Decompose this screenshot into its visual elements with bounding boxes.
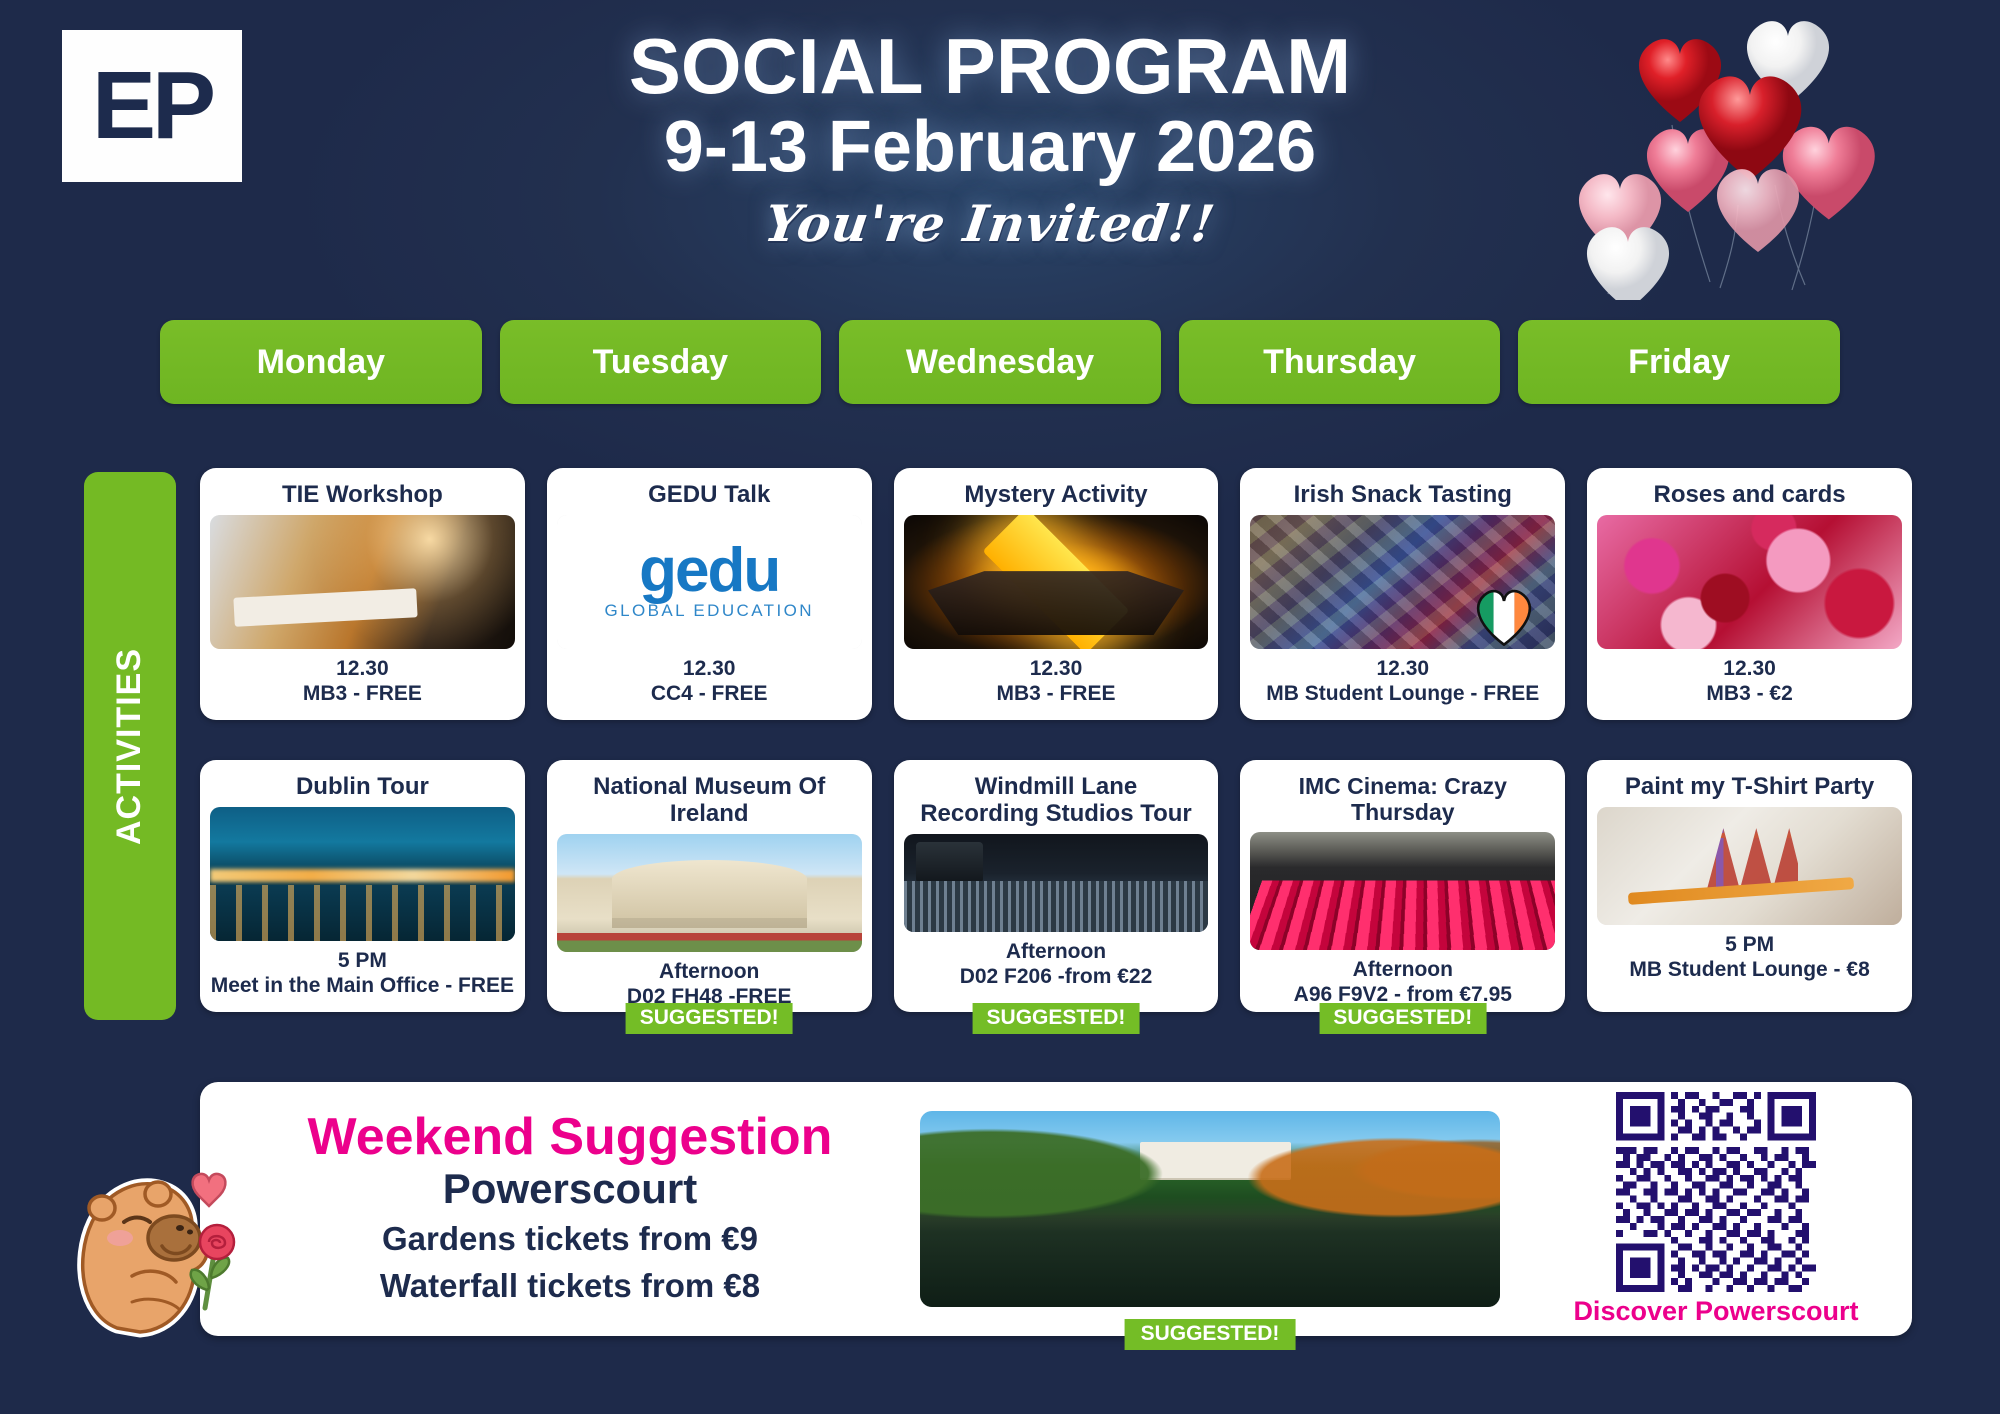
activity-image-cinema-seats <box>1250 832 1555 950</box>
weekend-heading: Weekend Suggestion <box>240 1110 900 1165</box>
activity-time: 12.30 <box>1030 657 1083 680</box>
weekend-text-block: Weekend Suggestion Powerscourt Gardens t… <box>200 1110 900 1308</box>
activity-location: D02 F206 -from €22 <box>960 964 1153 989</box>
day-header-row: Monday Tuesday Wednesday Thursday Friday <box>160 320 1840 404</box>
weekend-suggestion-panel: Weekend Suggestion Powerscourt Gardens t… <box>200 1082 1912 1336</box>
activity-time: 12.30 <box>683 657 736 680</box>
activity-meta: 12.30 MB3 - FREE <box>303 656 422 706</box>
weekend-qr-block[interactable]: Discover Powerscourt <box>1520 1092 1912 1327</box>
qr-code-icon[interactable] <box>1616 1092 1816 1292</box>
day-header-thursday[interactable]: Thursday <box>1179 320 1501 404</box>
activity-time: Afternoon <box>659 960 759 983</box>
activity-title: Roses and cards <box>1597 482 1902 509</box>
activity-title: Paint my T-Shirt Party <box>1597 774 1902 801</box>
activity-title-line1: Windmill Lane <box>904 774 1209 801</box>
grid-cell: Windmill Lane Recording Studios Tour Aft… <box>894 760 1219 1012</box>
weekend-place: Powerscourt <box>240 1165 900 1213</box>
grid-cell: Mystery Activity 12.30 MB3 - FREE <box>894 468 1219 720</box>
activity-time: Afternoon <box>1353 958 1453 981</box>
page-dates: 9-13 February 2026 <box>420 108 1560 187</box>
activity-title: Irish Snack Tasting <box>1250 482 1555 509</box>
ep-logo: EP <box>62 30 242 182</box>
invite-script-text: You're Invited!! <box>416 194 1564 253</box>
activity-card-imc-cinema[interactable]: IMC Cinema: Crazy Thursday Afternoon A96… <box>1240 760 1565 1012</box>
activity-time: 5 PM <box>1725 933 1774 956</box>
grid-cell: National Museum Of Ireland Afternoon D02… <box>547 760 872 1012</box>
activity-image-students-writing <box>210 515 515 649</box>
activity-meta: 12.30 MB3 - FREE <box>996 656 1115 706</box>
day-header-tuesday[interactable]: Tuesday <box>500 320 822 404</box>
activity-time: 12.30 <box>1723 657 1776 680</box>
grid-cell: Paint my T-Shirt Party 5 PM MB Student L… <box>1587 760 1912 1012</box>
activity-meta: 12.30 MB3 - €2 <box>1706 656 1792 706</box>
activity-location: CC4 - FREE <box>651 681 768 706</box>
activities-grid: TIE Workshop 12.30 MB3 - FREE GEDU Talk … <box>200 468 1912 1012</box>
activity-location: MB3 - €2 <box>1706 681 1792 706</box>
activity-time: 5 PM <box>338 949 387 972</box>
activity-image-painting-tshirt <box>1597 807 1902 925</box>
ep-logo-text: EP <box>92 58 212 154</box>
activity-meta: Afternoon A96 F9V2 - from €7.95 <box>1294 957 1512 1007</box>
capybara-with-rose-sticker <box>62 1150 242 1350</box>
activity-image-recording-studio <box>904 834 1209 932</box>
activity-time: Afternoon <box>1006 940 1106 963</box>
activity-title: TIE Workshop <box>210 482 515 509</box>
activity-card-national-museum[interactable]: National Museum Of Ireland Afternoon D02… <box>547 760 872 1012</box>
day-header-wednesday[interactable]: Wednesday <box>839 320 1161 404</box>
weekend-price-waterfall: Waterfall tickets from €8 <box>240 1264 900 1308</box>
activity-meta: Afternoon D02 FH48 -FREE <box>627 959 792 1009</box>
activity-meta: 12.30 MB Student Lounge - FREE <box>1266 656 1539 706</box>
activity-card-windmill-lane[interactable]: Windmill Lane Recording Studios Tour Aft… <box>894 760 1219 1012</box>
grid-cell: TIE Workshop 12.30 MB3 - FREE <box>200 468 525 720</box>
day-header-monday[interactable]: Monday <box>160 320 482 404</box>
heart-balloons-icon <box>1560 0 1980 300</box>
suggested-badge: SUGGESTED! <box>626 1003 793 1034</box>
page-title: SOCIAL PROGRAM <box>420 26 1560 106</box>
weekend-image-powerscourt <box>920 1111 1500 1307</box>
activity-card-roses-and-cards[interactable]: Roses and cards 12.30 MB3 - €2 <box>1587 468 1912 720</box>
activity-image-glowing-box <box>904 515 1209 649</box>
suggested-badge: SUGGESTED! <box>1319 1003 1486 1034</box>
activity-location: MB Student Lounge - €8 <box>1629 957 1869 982</box>
activity-title: National Museum Of Ireland <box>557 774 862 828</box>
weekend-suggested-badge: SUGGESTED! <box>1125 1319 1296 1350</box>
activity-meta: 12.30 CC4 - FREE <box>651 656 768 706</box>
activity-meta: 5 PM MB Student Lounge - €8 <box>1629 932 1869 982</box>
weekend-price-gardens: Gardens tickets from €9 <box>240 1217 900 1261</box>
activity-location: MB3 - FREE <box>303 681 422 706</box>
suggested-badge: SUGGESTED! <box>973 1003 1140 1034</box>
day-header-friday[interactable]: Friday <box>1518 320 1840 404</box>
activity-title: GEDU Talk <box>557 482 862 509</box>
activity-meta: Afternoon D02 F206 -from €22 <box>960 939 1153 989</box>
activity-meta: 5 PM Meet in the Main Office - FREE <box>211 948 514 998</box>
weekend-image-wrap: SUGGESTED! <box>900 1111 1520 1307</box>
activity-time: 12.30 <box>336 657 389 680</box>
activity-image-irish-snacks <box>1250 515 1555 649</box>
activity-card-irish-snack-tasting[interactable]: Irish Snack Tasting <box>1240 468 1565 720</box>
activity-image-pink-roses <box>1597 515 1902 649</box>
activity-card-dublin-tour[interactable]: Dublin Tour 5 PM Meet in the Main Office… <box>200 760 525 1012</box>
activity-title: Windmill Lane Recording Studios Tour <box>904 774 1209 828</box>
activity-image-national-museum <box>557 834 862 952</box>
irish-flag-heart-icon <box>1471 586 1537 646</box>
social-program-poster: EP SOCIAL PROGRAM 9-13 February 2026 You… <box>0 0 2000 1414</box>
grid-cell: IMC Cinema: Crazy Thursday Afternoon A96… <box>1240 760 1565 1012</box>
qr-caption: Discover Powerscourt <box>1573 1296 1858 1327</box>
activity-title: Mystery Activity <box>904 482 1209 509</box>
activity-title: Dublin Tour <box>210 774 515 801</box>
header-titles: SOCIAL PROGRAM 9-13 February 2026 You're… <box>420 26 1560 253</box>
activities-side-label: ACTIVITIES <box>84 472 176 1020</box>
activity-image-gedu-logo: gedu GLOBAL EDUCATION <box>557 515 862 649</box>
grid-cell: GEDU Talk gedu GLOBAL EDUCATION 12.30 CC… <box>547 468 872 720</box>
activity-location: Meet in the Main Office - FREE <box>211 973 514 998</box>
activity-card-gedu-talk[interactable]: GEDU Talk gedu GLOBAL EDUCATION 12.30 CC… <box>547 468 872 720</box>
activity-image-dublin-night <box>210 807 515 941</box>
activity-time: 12.30 <box>1377 657 1430 680</box>
activities-side-label-text: ACTIVITIES <box>111 647 150 844</box>
activity-card-mystery-activity[interactable]: Mystery Activity 12.30 MB3 - FREE <box>894 468 1219 720</box>
activity-card-tie-workshop[interactable]: TIE Workshop 12.30 MB3 - FREE <box>200 468 525 720</box>
activity-title-line2: Recording Studios Tour <box>904 801 1209 828</box>
activity-title: IMC Cinema: Crazy Thursday <box>1250 774 1555 826</box>
grid-cell: Irish Snack Tasting <box>1240 468 1565 720</box>
activity-card-paint-my-tshirt[interactable]: Paint my T-Shirt Party 5 PM MB Student L… <box>1587 760 1912 1012</box>
activity-location: MB Student Lounge - FREE <box>1266 681 1539 706</box>
grid-cell: Dublin Tour 5 PM Meet in the Main Office… <box>200 760 525 1012</box>
activity-location: MB3 - FREE <box>996 681 1115 706</box>
gedu-logo-wordmark: gedu <box>639 543 779 599</box>
grid-cell: Roses and cards 12.30 MB3 - €2 <box>1587 468 1912 720</box>
